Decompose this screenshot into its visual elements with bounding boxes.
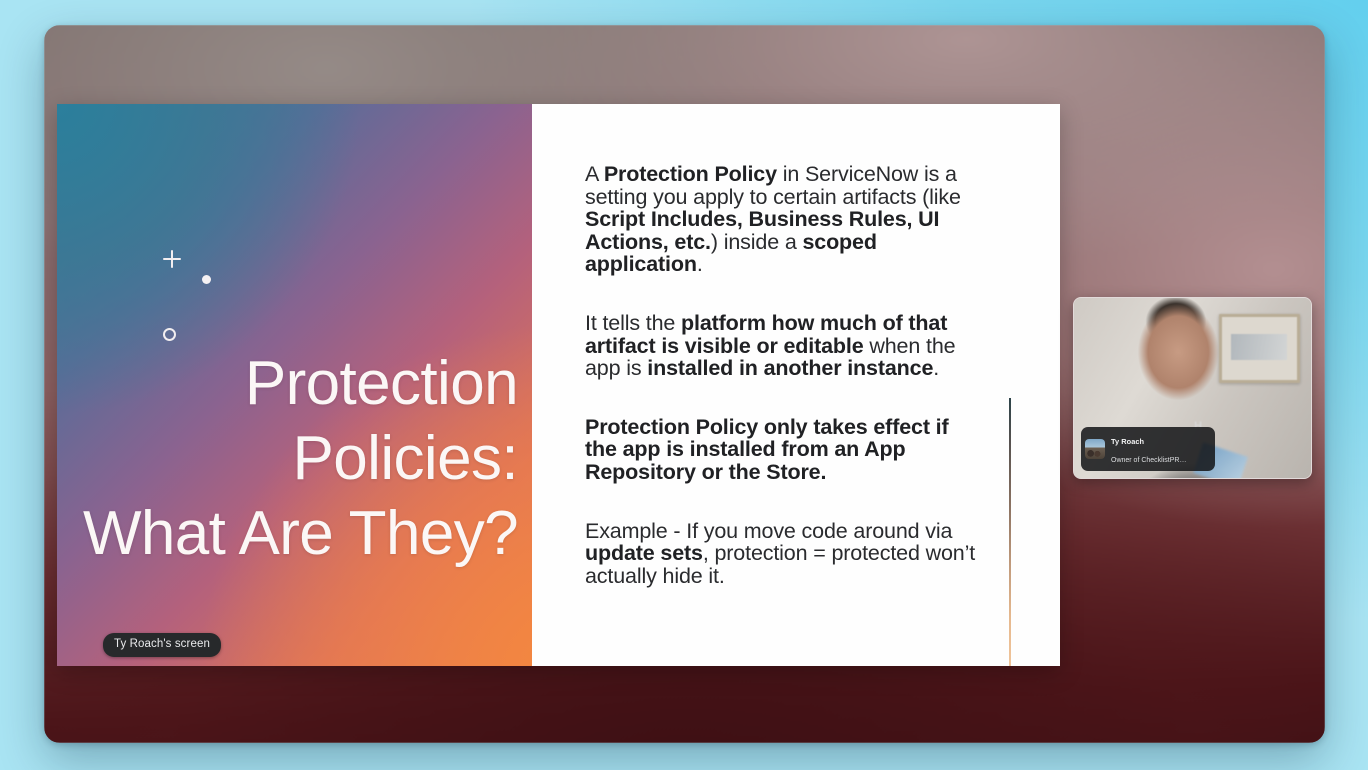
- participant-video-tile[interactable]: H Ty Roach Owner of ChecklistPR…: [1073, 297, 1312, 479]
- plus-mark-icon: [163, 250, 181, 268]
- participant-subtitle: Owner of ChecklistPR…: [1111, 457, 1186, 464]
- shared-screen-slide[interactable]: Protection Policies: What Are They? Ty R…: [57, 104, 1060, 666]
- participant-name-badge: Ty Roach Owner of ChecklistPR…: [1081, 427, 1215, 471]
- vertical-accent-rule: [1009, 398, 1011, 666]
- screen-share-label: Ty Roach's screen: [103, 633, 221, 658]
- filled-dot-icon: [202, 275, 211, 284]
- participant-name: Ty Roach: [1111, 437, 1144, 446]
- participant-badge-text: Ty Roach Owner of ChecklistPR…: [1111, 431, 1205, 467]
- wall-picture-frame: [1219, 314, 1301, 383]
- avatar: [1085, 439, 1105, 459]
- paragraph-what-it-does: It tells the platform how much of that a…: [585, 312, 977, 380]
- slide-title: Protection Policies: What Are They?: [67, 346, 518, 571]
- desktop-background: Protection Policies: What Are They? Ty R…: [0, 0, 1368, 770]
- hollow-circle-icon: [163, 328, 176, 341]
- paragraph-condition: Protection Policy only takes effect if t…: [585, 416, 977, 484]
- meeting-window: Protection Policies: What Are They? Ty R…: [44, 25, 1325, 743]
- slide-body-panel: A Protection Policy in ServiceNow is a s…: [532, 104, 1060, 666]
- slide-title-panel: Protection Policies: What Are They? Ty R…: [57, 104, 532, 666]
- slide-title-line-2: Policies:: [67, 421, 518, 496]
- slide-title-line-1: Protection: [67, 346, 518, 421]
- paragraph-example: Example - If you move code around via up…: [585, 520, 977, 588]
- slide-body-copy: A Protection Policy in ServiceNow is a s…: [585, 163, 977, 587]
- slide-title-line-3: What Are They?: [67, 496, 518, 571]
- paragraph-definition: A Protection Policy in ServiceNow is a s…: [585, 163, 977, 276]
